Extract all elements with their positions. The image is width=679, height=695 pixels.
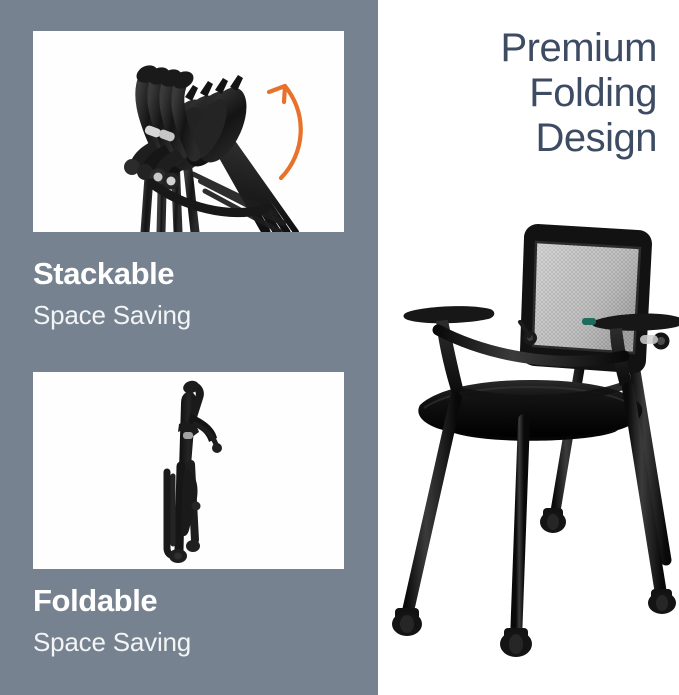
stacked-chairs-illustration <box>33 31 344 232</box>
caption-foldable: Foldable Space Saving <box>33 585 191 655</box>
feature-title-stackable: Stackable <box>33 258 191 289</box>
caption-stackable: Stackable Space Saving <box>33 258 191 328</box>
hero-product-image <box>378 0 679 695</box>
folded-chair-illustration <box>33 372 344 569</box>
caster-wheel <box>500 628 532 657</box>
curved-arrow-icon <box>269 86 301 178</box>
feature-subtitle-foldable: Space Saving <box>33 629 191 655</box>
feature-card-stackable <box>33 31 344 232</box>
feature-card-foldable <box>33 372 344 569</box>
caster-wheel <box>540 508 566 533</box>
caster-wheel <box>392 608 422 636</box>
caster-wheel <box>648 589 676 614</box>
caster-wheels <box>392 508 676 657</box>
feature-subtitle-stackable: Space Saving <box>33 302 191 328</box>
feature-title-foldable: Foldable <box>33 585 191 616</box>
product-infographic: Stackable Space Saving <box>0 0 679 695</box>
mesh-backrest <box>520 224 652 373</box>
